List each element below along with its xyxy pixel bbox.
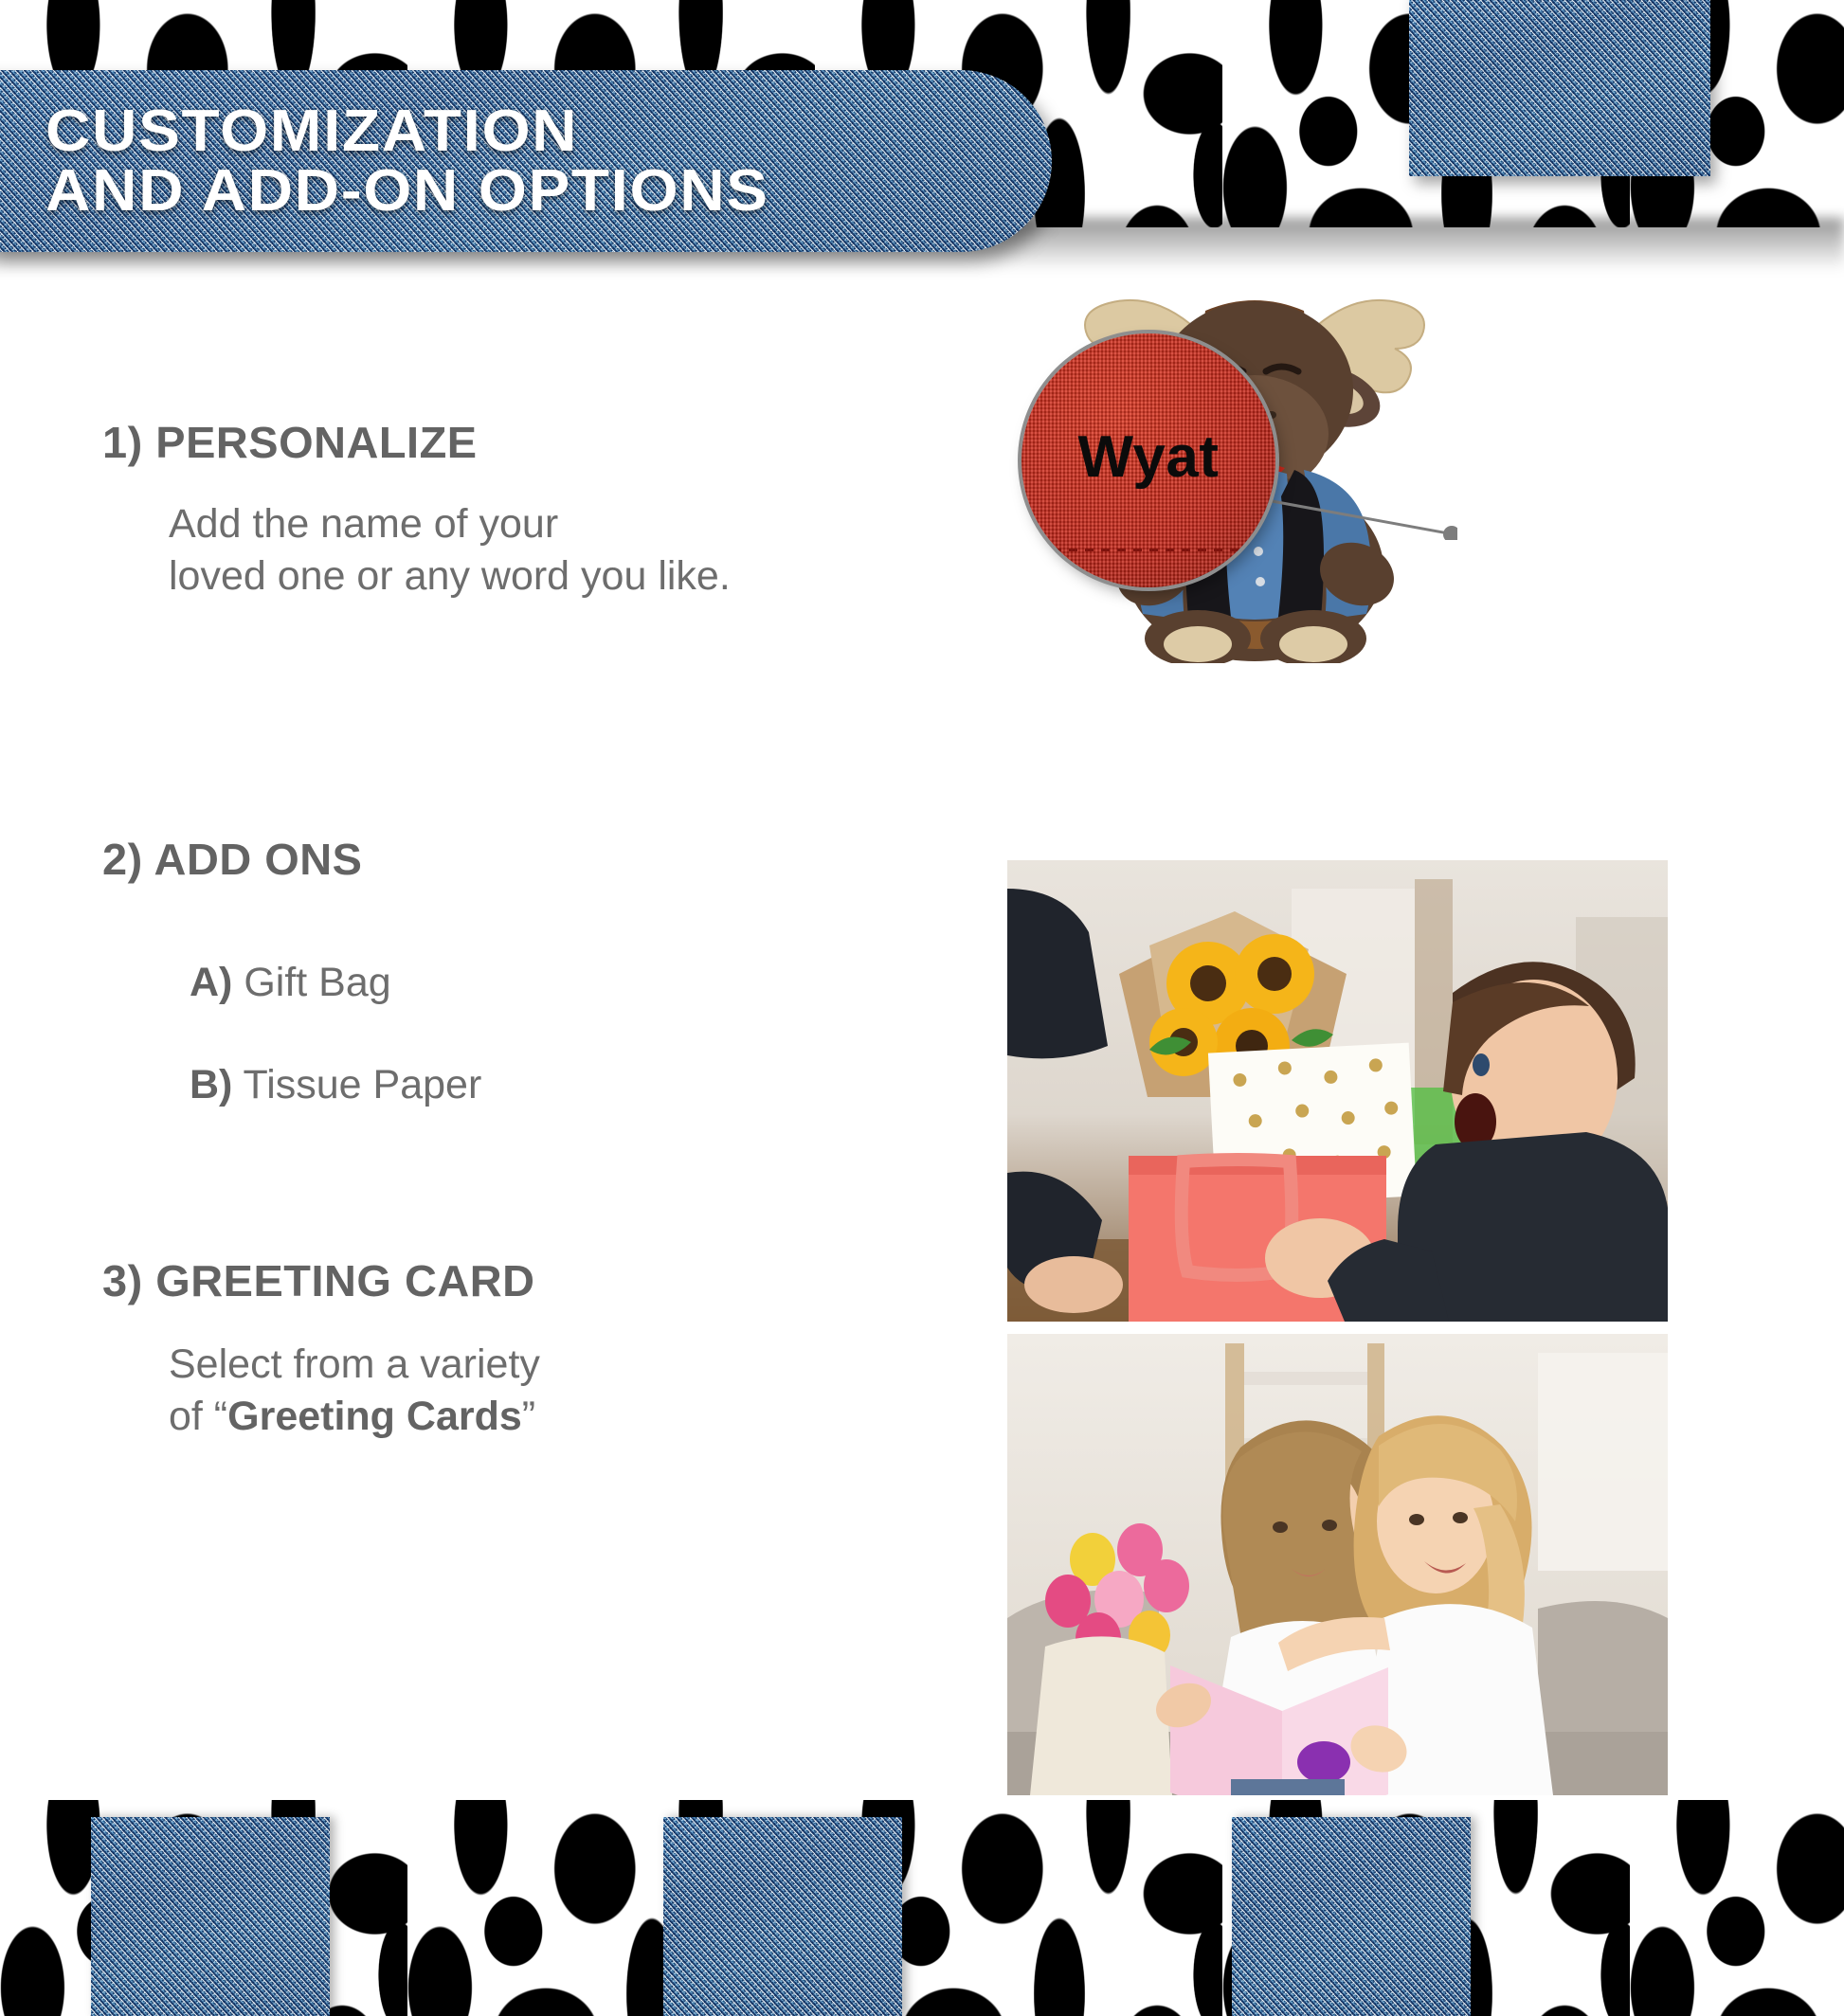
step-3-quote-open: of “ bbox=[169, 1394, 227, 1439]
step-add-ons: 2) ADD ONS A) Gift Bag B) Tissue Paper bbox=[102, 834, 481, 1109]
step-1-title: 1) PERSONALIZE bbox=[102, 417, 743, 468]
add-on-item-tissue-paper-label: Tissue Paper bbox=[244, 1062, 482, 1107]
step-3-quote-close: ” bbox=[522, 1394, 535, 1439]
add-on-item-tissue-paper[interactable]: B) Tissue Paper bbox=[190, 1061, 481, 1110]
step-personalize: 1) PERSONALIZE Add the name of your love… bbox=[102, 417, 731, 603]
add-on-item-tissue-paper-marker: B) bbox=[190, 1062, 232, 1107]
greeting-card-photo bbox=[1007, 1334, 1668, 1795]
step-3-greeting-cards-emphasis: Greeting Cards bbox=[227, 1394, 522, 1439]
bottom-pattern-band bbox=[0, 1800, 1844, 2016]
step-3-body: Select from a variety of “Greeting Cards… bbox=[169, 1339, 540, 1443]
bottom-denim-swatch-2 bbox=[663, 1817, 902, 2016]
step-greeting-card: 3) GREETING CARD Select from a variety o… bbox=[102, 1255, 540, 1443]
page-title-line-1: CUSTOMIZATION bbox=[45, 101, 1112, 161]
page-title-line-2: AND ADD-ON OPTIONS bbox=[45, 161, 1112, 221]
bottom-denim-swatch-1 bbox=[91, 1817, 330, 2016]
top-right-denim-swatch bbox=[1409, 0, 1710, 176]
page-title-banner: CUSTOMIZATION AND ADD-ON OPTIONS bbox=[0, 70, 1052, 252]
add-on-item-gift-bag-marker: A) bbox=[190, 960, 232, 1005]
gift-bag-photo bbox=[1007, 860, 1668, 1322]
add-ons-list: A) Gift Bag B) Tissue Paper bbox=[190, 959, 481, 1109]
step-2-title: 2) ADD ONS bbox=[102, 834, 489, 885]
slide-root: CUSTOMIZATION AND ADD-ON OPTIONS 1) PERS… bbox=[0, 0, 1844, 2016]
gift-bag-scene-icon bbox=[1007, 860, 1668, 1322]
step-1-body-line-2: loved one or any word you like. bbox=[169, 550, 731, 603]
step-3-title: 3) GREETING CARD bbox=[102, 1255, 549, 1306]
add-on-item-gift-bag[interactable]: A) Gift Bag bbox=[190, 959, 481, 1008]
step-1-body-line-1: Add the name of your bbox=[169, 498, 731, 550]
bottom-denim-swatch-3 bbox=[1232, 1817, 1471, 2016]
step-3-body-line-2: of “Greeting Cards” bbox=[169, 1391, 540, 1443]
steps-column: 1) PERSONALIZE Add the name of your love… bbox=[0, 227, 985, 1781]
name-tag-callout: Wyat bbox=[1021, 333, 1275, 587]
add-on-item-gift-bag-label: Gift Bag bbox=[244, 960, 390, 1005]
name-tag-text: Wyat bbox=[1077, 423, 1219, 491]
step-1-body: Add the name of your loved one or any wo… bbox=[169, 498, 731, 603]
step-3-body-line-1: Select from a variety bbox=[169, 1339, 540, 1391]
greeting-card-scene-icon bbox=[1007, 1334, 1668, 1795]
